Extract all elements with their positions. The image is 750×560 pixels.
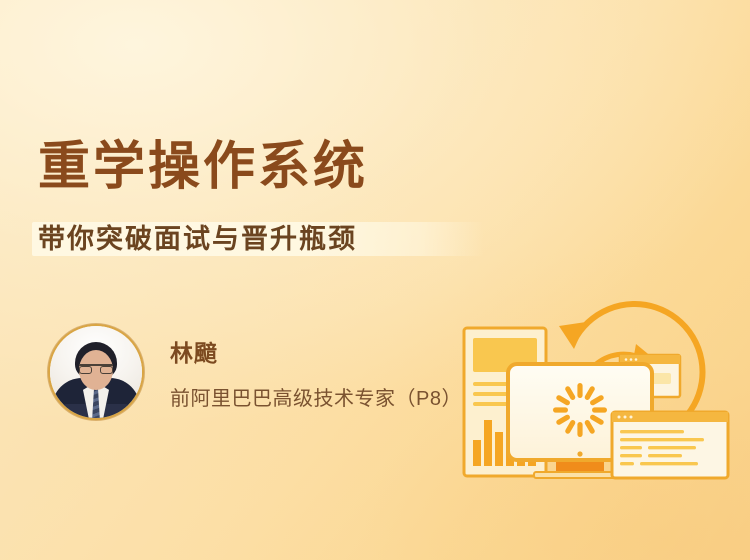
- page-title: 重学操作系统: [38, 138, 508, 196]
- author-block: 林䬓 前阿里巴巴高级技术专家（P8）: [50, 326, 462, 418]
- course-promo-banner: 重学操作系统 带你突破面试与晋升瓶颈 林䬓 前阿里巴巴高级技术专家（P8）: [0, 0, 750, 560]
- code-editor-window: [612, 412, 728, 478]
- page-subtitle: 带你突破面试与晋升瓶颈: [38, 218, 508, 260]
- subtitle-row: 带你突破面试与晋升瓶颈: [38, 218, 508, 260]
- operating-system-devices-illustration: [448, 282, 748, 497]
- avatar: [50, 326, 142, 418]
- headline-block: 重学操作系统 带你突破面试与晋升瓶颈: [38, 138, 508, 260]
- author-name: 林䬓: [170, 334, 462, 368]
- author-title: 前阿里巴巴高级技术专家（P8）: [170, 382, 462, 411]
- author-text-block: 林䬓 前阿里巴巴高级技术专家（P8）: [170, 334, 462, 411]
- avatar-glasses: [79, 364, 113, 373]
